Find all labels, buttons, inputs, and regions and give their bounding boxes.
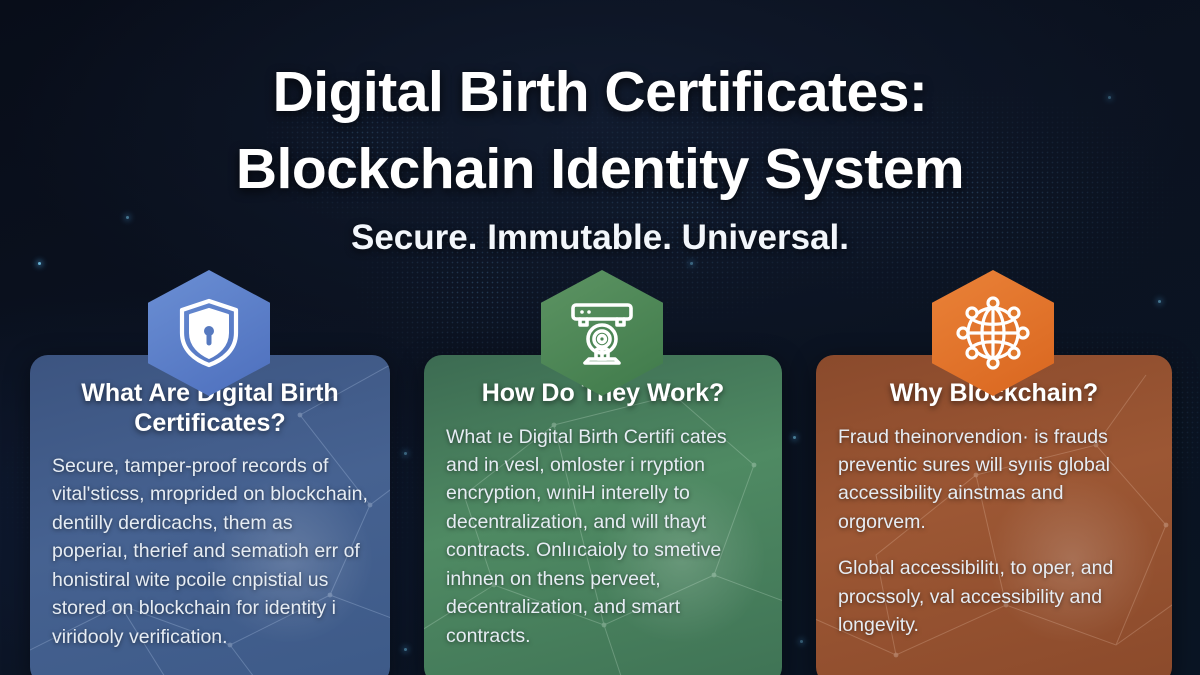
card-body: What ıe Digital Birth Certifi cates and …: [446, 409, 760, 651]
card-paragraph: Global accessibilitı, to oper, and procs…: [838, 554, 1150, 639]
card-paragraph: Fraud theinorvendion· is frauds preventi…: [838, 423, 1150, 537]
spark-dot: [404, 452, 407, 455]
spark-dot: [690, 262, 693, 265]
page-title-line-2: Blockchain Identity System: [0, 121, 1200, 198]
card-paragraph: Secure, tamper-proof records of vital'st…: [52, 452, 368, 651]
card-body: Secure, tamper-proof records of vital'st…: [52, 438, 368, 651]
spark-dot: [38, 262, 41, 265]
spark-dot: [404, 648, 407, 651]
server-scanner-icon: [567, 297, 637, 369]
card-body: Fraud theinorvendion· is frauds preventi…: [838, 409, 1150, 640]
spark-dot: [1158, 300, 1161, 303]
spark-dot: [800, 640, 803, 643]
info-card-what-are-digital-birth-certificates[interactable]: What Are Digital Birth Certificates? Sec…: [30, 355, 390, 675]
shield-lock-icon: [176, 297, 242, 369]
page-subtitle: Secure. Immutable. Universal.: [0, 198, 1200, 258]
info-card-why-blockchain[interactable]: Why Blockchain? Fraud theinorvendion· is…: [816, 355, 1172, 675]
card-paragraph: What ıe Digital Birth Certifi cates and …: [446, 423, 760, 651]
info-card-how-do-they-work[interactable]: How Do They Work? What ıe Digital Birth …: [424, 355, 782, 675]
page-title-line-1: Digital Birth Certificates:: [0, 0, 1200, 121]
header: Digital Birth Certificates: Blockchain I…: [0, 0, 1200, 258]
globe-network-icon: [956, 296, 1030, 370]
spark-dot: [793, 436, 796, 439]
